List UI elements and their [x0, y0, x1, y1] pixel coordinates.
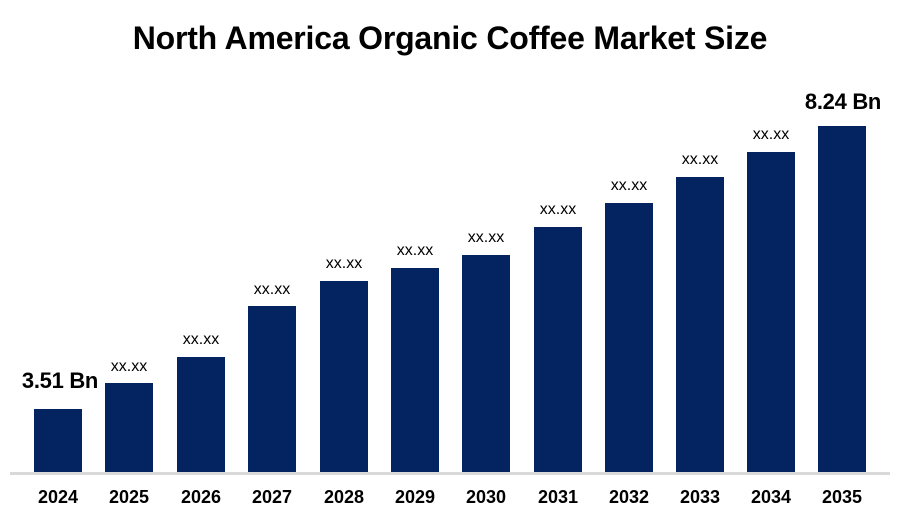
bar-2028[interactable] — [320, 281, 368, 472]
bar-2033[interactable] — [676, 177, 724, 472]
x-tick-label-2024: 2024 — [18, 487, 98, 508]
bar-value-label-2034: xx.xx — [741, 126, 801, 144]
bar-value-label-2028: xx.xx — [314, 255, 374, 273]
x-tick-label-2031: 2031 — [518, 487, 598, 508]
bar-2034[interactable] — [747, 152, 795, 472]
bar-value-label-2025: xx.xx — [99, 358, 159, 376]
x-tick-label-2026: 2026 — [161, 487, 241, 508]
x-tick-label-2028: 2028 — [304, 487, 384, 508]
bar-2027[interactable] — [248, 306, 296, 472]
x-axis-baseline — [10, 472, 890, 475]
x-tick-label-2032: 2032 — [589, 487, 669, 508]
x-tick-label-2030: 2030 — [446, 487, 526, 508]
plot-area: 3.51 Bnxx.xxxx.xxxx.xxxx.xxxx.xxxx.xxxx.… — [0, 0, 900, 525]
x-tick-label-2027: 2027 — [232, 487, 312, 508]
bar-2025[interactable] — [105, 383, 153, 472]
bar-value-label-2030: xx.xx — [456, 229, 516, 247]
x-tick-label-2034: 2034 — [731, 487, 811, 508]
x-tick-label-2035: 2035 — [802, 487, 882, 508]
bar-2032[interactable] — [605, 203, 653, 472]
bar-2026[interactable] — [177, 357, 225, 472]
bar-2031[interactable] — [534, 227, 582, 472]
bar-chart-figure: North America Organic Coffee Market Size… — [0, 0, 900, 525]
bar-value-label-2027: xx.xx — [242, 281, 302, 299]
x-tick-label-2029: 2029 — [375, 487, 455, 508]
bar-value-label-2033: xx.xx — [670, 151, 730, 169]
bar-value-label-2035: 8.24 Bn — [793, 89, 893, 115]
bar-value-label-2024: 3.51 Bn — [10, 368, 110, 394]
bar-value-label-2031: xx.xx — [528, 201, 588, 219]
bar-2030[interactable] — [462, 255, 510, 472]
bar-2029[interactable] — [391, 268, 439, 472]
bar-value-label-2029: xx.xx — [385, 242, 445, 260]
bar-2024[interactable] — [34, 409, 82, 472]
x-tick-label-2025: 2025 — [89, 487, 169, 508]
bar-2035[interactable] — [818, 126, 866, 472]
x-tick-label-2033: 2033 — [660, 487, 740, 508]
bar-value-label-2032: xx.xx — [599, 177, 659, 195]
bar-value-label-2026: xx.xx — [171, 331, 231, 349]
